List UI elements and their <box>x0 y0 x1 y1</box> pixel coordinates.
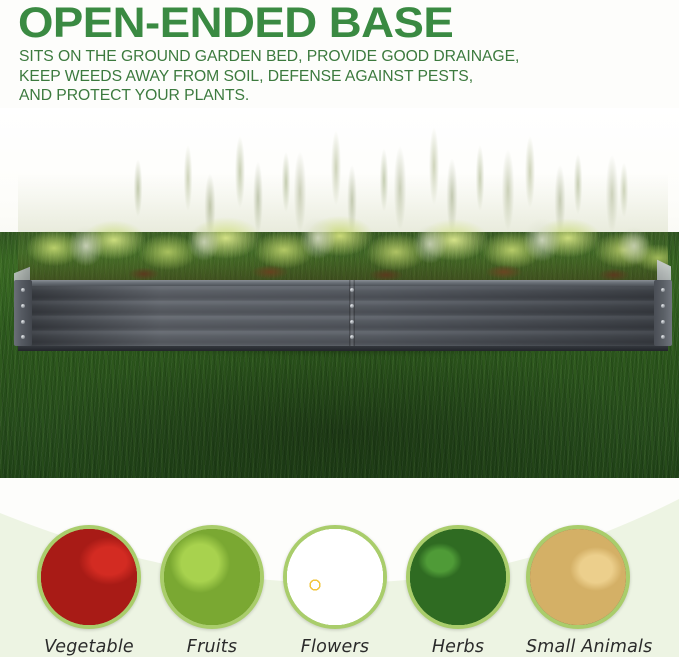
bed-open-base-edge <box>18 346 668 351</box>
apple-kiwi-photo <box>164 529 260 625</box>
use-item-flowers[interactable]: Flowers <box>283 525 387 657</box>
use-label-vegetable: Vegetable <box>37 637 141 657</box>
use-item-vegetable[interactable]: Vegetable <box>37 525 141 657</box>
bolt-icon <box>661 304 665 308</box>
use-label-fruits: Fruits <box>160 637 264 657</box>
bolt-icon <box>21 335 25 339</box>
use-item-herbs[interactable]: Herbs <box>406 525 510 657</box>
bolt-icon <box>350 335 354 339</box>
bolt-icon <box>350 288 354 292</box>
baby-chicks-photo <box>530 529 626 625</box>
use-thumbnail-vegetable[interactable] <box>37 525 141 629</box>
subtitle-line-1: SITS ON THE GROUND GARDEN BED, PROVIDE G… <box>19 47 672 67</box>
mint-leaves-photo <box>410 529 506 625</box>
uses-list: Vegetable Fruits Flowers Herbs <box>0 417 679 657</box>
bolt-icon <box>21 288 25 292</box>
infographic-page: OPEN-ENDED BASE SITS ON THE GROUND GARDE… <box>0 0 679 657</box>
daisy-chamomile-photo <box>287 529 383 625</box>
use-item-fruits[interactable]: Fruits <box>160 525 264 657</box>
page-subtitle: SITS ON THE GROUND GARDEN BED, PROVIDE G… <box>19 47 672 106</box>
subtitle-line-3: AND PROTECT YOUR PLANTS. <box>19 86 672 106</box>
bolt-icon <box>661 335 665 339</box>
bolt-icon <box>21 320 25 324</box>
use-label-small-animals: Small Animals <box>526 637 630 657</box>
bolt-icon <box>350 304 354 308</box>
use-item-small-animals[interactable]: Small Animals <box>526 525 630 657</box>
uses-panel: Vegetable Fruits Flowers Herbs <box>0 417 679 657</box>
header: OPEN-ENDED BASE SITS ON THE GROUND GARDE… <box>0 0 679 118</box>
metal-raised-garden-bed <box>18 280 668 348</box>
planted-vegetation <box>18 126 668 286</box>
use-label-flowers: Flowers <box>283 637 387 657</box>
bolt-icon <box>350 320 354 324</box>
use-label-herbs: Herbs <box>406 637 510 657</box>
bolt-icon <box>661 320 665 324</box>
use-thumbnail-herbs[interactable] <box>406 525 510 629</box>
corrugated-panel <box>18 286 668 346</box>
use-thumbnail-small-animals[interactable] <box>526 525 630 629</box>
pepper-lettuce-photo <box>41 529 137 625</box>
page-title: OPEN-ENDED BASE <box>18 2 453 45</box>
center-seam <box>349 280 355 346</box>
subtitle-line-2: KEEP WEEDS AWAY FROM SOIL, DEFENSE AGAIN… <box>19 67 672 87</box>
use-thumbnail-flowers[interactable] <box>283 525 387 629</box>
bolt-icon <box>661 288 665 292</box>
corner-post-left <box>14 280 32 346</box>
corner-post-right <box>654 280 672 346</box>
bolt-icon <box>21 304 25 308</box>
use-thumbnail-fruits[interactable] <box>160 525 264 629</box>
